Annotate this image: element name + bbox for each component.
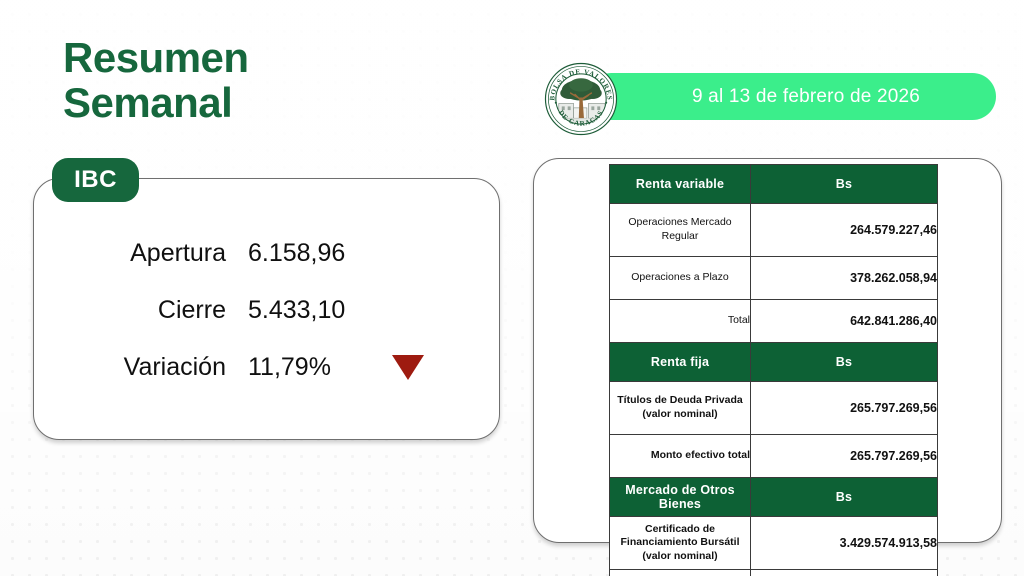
table-cell-label: Certificado de Financiamiento Bursátil (… <box>610 517 751 570</box>
table-cell-value: 264.579.227,46 <box>751 204 938 257</box>
table-cell-value: 265.797.269,56 <box>751 382 938 435</box>
table-section-unit: Bs <box>751 343 938 382</box>
ibc-metric-label: Variación <box>33 353 248 382</box>
trend-down-icon <box>392 355 424 380</box>
market-summary-table: Renta variableBsOperaciones Mercado Regu… <box>609 164 938 576</box>
table-row: Monto efectivo3.429.574.913,58 <box>610 570 938 576</box>
table-section-title: Renta variable <box>610 165 751 204</box>
bolsa-de-valores-de-caracas-seal-icon: BOLSA DE VALORES DE CARACAS <box>544 62 618 136</box>
table-row: Títulos de Deuda Privada (valor nominal)… <box>610 382 938 435</box>
table-row: Total642.841.286,40 <box>610 300 938 343</box>
table-section-header-row: Mercado de Otros BienesBs <box>610 478 938 517</box>
table-cell-label: Títulos de Deuda Privada (valor nominal) <box>610 382 751 435</box>
table-section-header-row: Renta fijaBs <box>610 343 938 382</box>
table-row: Operaciones a Plazo378.262.058,94 <box>610 257 938 300</box>
ibc-badge-label: IBC <box>74 166 117 194</box>
table-row: Operaciones Mercado Regular264.579.227,4… <box>610 204 938 257</box>
table-cell-label: Monto efectivo <box>610 570 751 576</box>
ibc-metric-label: Cierre <box>33 296 248 325</box>
table-row: Certificado de Financiamiento Bursátil (… <box>610 517 938 570</box>
ibc-badge: IBC <box>52 158 139 202</box>
table-cell-value: 265.797.269,56 <box>751 435 938 478</box>
table-cell-label: Operaciones a Plazo <box>610 257 751 300</box>
table-cell-label: Total <box>610 300 751 343</box>
date-range-banner: 9 al 13 de febrero de 2026 <box>588 73 996 120</box>
table-row: Monto efectivo total265.797.269,56 <box>610 435 938 478</box>
page-title: Resumen Semanal <box>63 35 249 126</box>
date-range-text: 9 al 13 de febrero de 2026 <box>664 86 920 108</box>
table-section-title: Mercado de Otros Bienes <box>610 478 751 517</box>
table-cell-value: 3.429.574.913,58 <box>751 570 938 576</box>
ibc-metric-value: 6.158,96 <box>248 239 388 268</box>
table-section-title: Renta fija <box>610 343 751 382</box>
table-section-unit: Bs <box>751 478 938 517</box>
table-section-unit: Bs <box>751 165 938 204</box>
table-cell-label: Operaciones Mercado Regular <box>610 204 751 257</box>
table-section-header-row: Renta variableBs <box>610 165 938 204</box>
ibc-metrics-list: Apertura6.158,96Cierre5.433,10Variación1… <box>33 225 498 396</box>
table-cell-value: 378.262.058,94 <box>751 257 938 300</box>
table-cell-value: 642.841.286,40 <box>751 300 938 343</box>
ibc-trend-indicator <box>388 355 428 380</box>
table-cell-label: Monto efectivo total <box>610 435 751 478</box>
ibc-metric-value: 5.433,10 <box>248 296 388 325</box>
seal-svg: BOLSA DE VALORES DE CARACAS <box>544 62 618 136</box>
ibc-metric-row: Variación11,79% <box>33 339 498 396</box>
ibc-metric-row: Apertura6.158,96 <box>33 225 498 282</box>
ibc-metric-value: 11,79% <box>248 353 388 382</box>
ibc-metric-label: Apertura <box>33 239 248 268</box>
ibc-metric-row: Cierre5.433,10 <box>33 282 498 339</box>
slide-canvas: Resumen Semanal 9 al 13 de febrero de 20… <box>0 0 1024 576</box>
table-cell-value: 3.429.574.913,58 <box>751 517 938 570</box>
